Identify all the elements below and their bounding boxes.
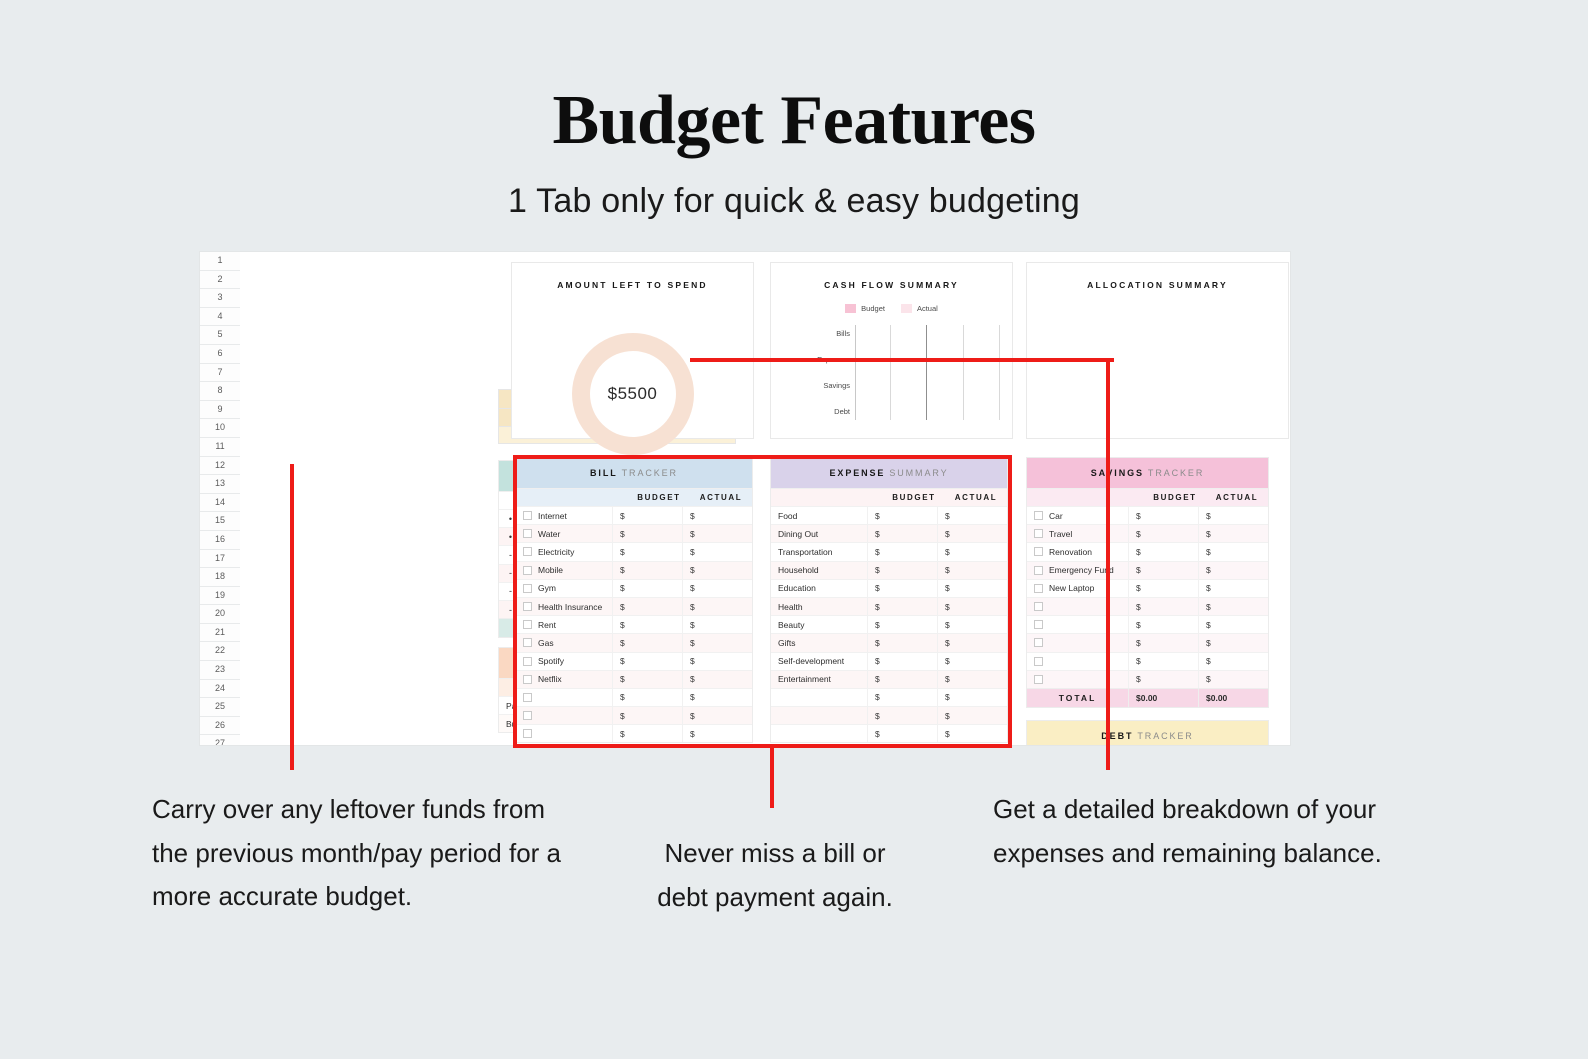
budget-cell[interactable]: $ — [1128, 616, 1198, 633]
table-row[interactable]: Dining Out$$ — [771, 524, 1007, 542]
actual-cell[interactable]: $ — [682, 616, 752, 633]
actual-cell[interactable]: $ — [1198, 671, 1268, 688]
actual-cell[interactable]: $ — [682, 580, 752, 597]
row-number[interactable]: 13 — [200, 475, 240, 494]
row-label-cell[interactable]: Health — [771, 598, 867, 615]
checkbox-icon[interactable] — [523, 529, 532, 538]
row-label-cell[interactable] — [516, 707, 612, 724]
row-label: Car — [1049, 511, 1063, 521]
row-label-cell[interactable]: Gas — [516, 634, 612, 651]
expense-summary-table[interactable]: EXPENSE SUMMARY BUDGET ACTUAL Food$$Dini… — [770, 457, 1008, 743]
savings-tracker-table[interactable]: SAVINGS TRACKER BUDGET ACTUAL Car$$Trave… — [1026, 457, 1269, 708]
currency-symbol: $ — [875, 729, 880, 739]
budget-cell[interactable]: $ — [867, 543, 937, 560]
budget-cell[interactable]: $ — [612, 671, 682, 688]
checkbox-icon[interactable] — [523, 602, 532, 611]
row-label-cell[interactable]: Travel — [1027, 525, 1128, 542]
row-number[interactable]: 8 — [200, 382, 240, 401]
budget-cell[interactable]: $ — [867, 689, 937, 706]
savings-title-bold: SAVINGS — [1091, 468, 1144, 478]
savings-col-budget: BUDGET — [1144, 489, 1206, 506]
row-number[interactable]: 3 — [200, 289, 240, 308]
table-row[interactable]: Transportation$$ — [771, 542, 1007, 560]
budget-cell[interactable]: $ — [612, 653, 682, 670]
actual-cell[interactable]: $ — [682, 634, 752, 651]
currency-symbol: $ — [945, 583, 950, 593]
actual-cell[interactable]: $ — [937, 689, 1007, 706]
row-label-cell[interactable] — [771, 725, 867, 742]
checkbox-icon[interactable] — [1034, 547, 1043, 556]
row-number[interactable]: 16 — [200, 531, 240, 550]
row-number[interactable]: 19 — [200, 587, 240, 606]
checkbox-icon[interactable] — [523, 675, 532, 684]
row-label: Dining Out — [778, 529, 818, 539]
annotation-line-horizontal — [690, 358, 1114, 362]
row-number[interactable]: 10 — [200, 419, 240, 438]
row-label: Food — [778, 511, 797, 521]
actual-cell[interactable]: $ — [1198, 616, 1268, 633]
row-label-cell[interactable]: Household — [771, 562, 867, 579]
table-row[interactable]: Health$$ — [771, 597, 1007, 615]
row-label-cell[interactable] — [516, 725, 612, 742]
table-row[interactable]: $$ — [771, 724, 1007, 742]
currency-symbol: $ — [945, 602, 950, 612]
currency-symbol: $ — [620, 620, 625, 630]
row-label: Internet — [538, 511, 567, 521]
row-number[interactable]: 14 — [200, 494, 240, 513]
table-row[interactable]: $$ — [516, 706, 752, 724]
bill-tracker-header: BILL TRACKER — [516, 458, 752, 488]
row-number[interactable]: 23 — [200, 661, 240, 680]
budget-cell[interactable]: $ — [867, 707, 937, 724]
currency-symbol: $ — [620, 692, 625, 702]
currency-symbol: $ — [945, 711, 950, 721]
row-number[interactable]: 22 — [200, 642, 240, 661]
row-number[interactable]: 1 — [200, 252, 240, 271]
spreadsheet-canvas[interactable]: 1234567891011121314151617181920212223242… — [200, 252, 1290, 745]
budget-cell[interactable]: $ — [612, 525, 682, 542]
spreadsheet-grid[interactable]: AUGUST · BUDGET DASHBOARD · START DATE 1… — [240, 252, 1290, 745]
annotation-box-bottom — [513, 744, 1012, 748]
currency-symbol: $ — [1206, 638, 1211, 648]
row-label-cell[interactable]: Netflix — [516, 671, 612, 688]
table-row[interactable]: Internet$$ — [516, 506, 752, 524]
table-row[interactable]: Electricity$$ — [516, 542, 752, 560]
budget-cell[interactable]: $ — [612, 689, 682, 706]
table-row[interactable]: Emergency Fund$$ — [1027, 561, 1268, 579]
row-label: Rent — [538, 620, 556, 630]
row-number[interactable]: 9 — [200, 401, 240, 420]
currency-symbol: $ — [875, 656, 880, 666]
actual-cell[interactable]: $ — [937, 707, 1007, 724]
currency-symbol: $ — [690, 692, 695, 702]
actual-cell[interactable]: $ — [937, 634, 1007, 651]
currency-symbol: $ — [620, 674, 625, 684]
checkbox-icon[interactable] — [523, 729, 532, 738]
checkbox-icon[interactable] — [1034, 657, 1043, 666]
currency-symbol: $ — [875, 638, 880, 648]
row-label: Health — [778, 602, 803, 612]
actual-cell[interactable]: $ — [937, 562, 1007, 579]
currency-symbol: $ — [620, 511, 625, 521]
table-row[interactable]: Travel$$ — [1027, 524, 1268, 542]
budget-cell[interactable]: $ — [1128, 507, 1198, 524]
cashflow-chart-title: CASH FLOW SUMMARY — [771, 280, 1012, 290]
table-row[interactable]: $$ — [771, 688, 1007, 706]
table-row[interactable]: Food$$ — [771, 506, 1007, 524]
table-row[interactable]: Education$$ — [771, 579, 1007, 597]
budget-cell[interactable]: $ — [867, 525, 937, 542]
gridline — [999, 325, 1000, 420]
amount-left-title: AMOUNT LEFT TO SPEND — [512, 280, 753, 290]
savings-total-label: TOTAL — [1027, 689, 1128, 707]
amount-left-donut: $5500 — [572, 333, 694, 455]
actual-cell[interactable]: $ — [937, 725, 1007, 742]
currency-symbol: $ — [620, 547, 625, 557]
table-row[interactable]: Spotify$$ — [516, 652, 752, 670]
expense-column-headers: BUDGET ACTUAL — [771, 488, 1007, 506]
row-label: New Laptop — [1049, 583, 1094, 593]
currency-symbol: $ — [690, 529, 695, 539]
budget-cell[interactable]: $ — [867, 580, 937, 597]
savings-column-headers: BUDGET ACTUAL — [1027, 488, 1268, 506]
row-number[interactable]: 17 — [200, 550, 240, 569]
row-label-cell[interactable]: Spotify — [516, 653, 612, 670]
actual-cell[interactable]: $ — [682, 689, 752, 706]
budget-cell[interactable]: $ — [1128, 634, 1198, 651]
savings-tracker-header: SAVINGS TRACKER — [1027, 458, 1268, 488]
row-label-cell[interactable]: Rent — [516, 616, 612, 633]
row-label-cell[interactable]: Water — [516, 525, 612, 542]
row-label-cell[interactable] — [1027, 598, 1128, 615]
budget-cell[interactable]: $ — [867, 725, 937, 742]
row-label-cell[interactable]: Entertainment — [771, 671, 867, 688]
budget-cell[interactable]: $ — [612, 725, 682, 742]
checkbox-icon[interactable] — [523, 711, 532, 720]
savings-total-actual: $0.00 — [1198, 689, 1268, 707]
actual-cell[interactable]: $ — [1198, 598, 1268, 615]
actual-cell[interactable]: $ — [1198, 580, 1268, 597]
actual-cell[interactable]: $ — [937, 543, 1007, 560]
budget-cell[interactable]: $ — [1128, 543, 1198, 560]
row-label-cell[interactable]: Internet — [516, 507, 612, 524]
actual-cell[interactable]: $ — [682, 507, 752, 524]
currency-symbol: $ — [690, 565, 695, 575]
budget-cell[interactable]: $ — [867, 653, 937, 670]
table-row[interactable]: Gifts$$ — [771, 633, 1007, 651]
budget-cell[interactable]: $ — [867, 671, 937, 688]
row-label-cell[interactable]: New Laptop — [1027, 580, 1128, 597]
currency-symbol: $ — [1136, 656, 1141, 666]
table-row[interactable]: Mobile$$ — [516, 561, 752, 579]
table-row[interactable]: $$ — [1027, 652, 1268, 670]
checkbox-icon[interactable] — [523, 657, 532, 666]
row-label: Renovation — [1049, 547, 1092, 557]
checkbox-icon[interactable] — [523, 511, 532, 520]
table-row[interactable]: $$ — [1027, 615, 1268, 633]
legend-item-actual: Actual — [901, 304, 938, 313]
actual-cell[interactable]: $ — [1198, 525, 1268, 542]
row-label-cell[interactable]: Mobile — [516, 562, 612, 579]
bill-col-budget: BUDGET — [628, 489, 690, 506]
row-number[interactable]: 11 — [200, 438, 240, 457]
checkbox-icon[interactable] — [1034, 511, 1043, 520]
row-label: Education — [778, 583, 816, 593]
currency-symbol: $ — [620, 656, 625, 666]
table-row[interactable]: Beauty$$ — [771, 615, 1007, 633]
caption-left: Carry over any leftover funds from the p… — [152, 788, 572, 919]
checkbox-icon[interactable] — [523, 620, 532, 629]
checkbox-icon[interactable] — [523, 547, 532, 556]
currency-symbol: $ — [945, 529, 950, 539]
budget-cell[interactable]: $ — [867, 507, 937, 524]
budget-cell[interactable]: $ — [612, 598, 682, 615]
table-row[interactable]: $$ — [516, 688, 752, 706]
budget-cell[interactable]: $ — [1128, 525, 1198, 542]
checkbox-icon[interactable] — [523, 638, 532, 647]
currency-symbol: $ — [1136, 529, 1141, 539]
annotation-box-top — [513, 455, 1012, 459]
table-row[interactable]: $$ — [516, 724, 752, 742]
row-number[interactable]: 20 — [200, 605, 240, 624]
currency-symbol: $ — [620, 529, 625, 539]
actual-cell[interactable]: $ — [682, 725, 752, 742]
actual-cell[interactable]: $ — [1198, 634, 1268, 651]
bill-col-blank — [516, 489, 628, 506]
row-label: Mobile — [538, 565, 563, 575]
gridline — [926, 325, 927, 420]
chart-category-label: Debt — [819, 398, 855, 424]
table-row[interactable]: Health Insurance$$ — [516, 597, 752, 615]
checkbox-icon[interactable] — [1034, 529, 1043, 538]
row-label-cell[interactable] — [1027, 671, 1128, 688]
checkbox-icon[interactable] — [1034, 566, 1043, 575]
row-label-cell[interactable] — [1027, 616, 1128, 633]
currency-symbol: $ — [945, 547, 950, 557]
row-label-cell[interactable]: Food — [771, 507, 867, 524]
row-number[interactable]: 25 — [200, 698, 240, 717]
actual-cell[interactable]: $ — [937, 507, 1007, 524]
actual-cell[interactable]: $ — [937, 671, 1007, 688]
row-label-cell[interactable]: Electricity — [516, 543, 612, 560]
budget-cell[interactable]: $ — [612, 562, 682, 579]
checkbox-icon[interactable] — [523, 584, 532, 593]
row-label-cell[interactable]: Emergency Fund — [1027, 562, 1128, 579]
table-row[interactable]: Rent$$ — [516, 615, 752, 633]
actual-cell[interactable]: $ — [1198, 562, 1268, 579]
currency-symbol: $ — [1206, 602, 1211, 612]
row-label: Health Insurance — [538, 602, 602, 612]
row-label-cell[interactable] — [771, 689, 867, 706]
cashflow-bar-chart: BillsExpensesSavingsDebt — [819, 321, 1002, 424]
currency-symbol: $ — [1206, 511, 1211, 521]
row-label-cell[interactable] — [1027, 653, 1128, 670]
row-label-cell[interactable]: Gifts — [771, 634, 867, 651]
row-label: Travel — [1049, 529, 1072, 539]
legend-swatch-actual — [901, 304, 912, 313]
checkbox-icon[interactable] — [1034, 602, 1043, 611]
annotation-line-middle — [770, 744, 774, 808]
table-row[interactable]: $$ — [1027, 597, 1268, 615]
currency-symbol: $ — [620, 711, 625, 721]
currency-symbol: $ — [690, 583, 695, 593]
chart-category-label: Savings — [819, 373, 855, 399]
currency-symbol: $ — [945, 729, 950, 739]
row-label-cell[interactable]: Health Insurance — [516, 598, 612, 615]
budget-cell[interactable]: $ — [1128, 653, 1198, 670]
actual-cell[interactable]: $ — [937, 580, 1007, 597]
actual-cell[interactable]: $ — [682, 543, 752, 560]
currency-symbol: $ — [875, 529, 880, 539]
currency-symbol: $ — [945, 692, 950, 702]
row-label: Gas — [538, 638, 554, 648]
row-label-cell[interactable] — [771, 707, 867, 724]
row-label-cell[interactable]: Car — [1027, 507, 1128, 524]
table-row[interactable]: Gym$$ — [516, 579, 752, 597]
actual-cell[interactable]: $ — [682, 653, 752, 670]
currency-symbol: $ — [690, 729, 695, 739]
table-row[interactable]: New Laptop$$ — [1027, 579, 1268, 597]
checkbox-icon[interactable] — [1034, 675, 1043, 684]
budget-cell[interactable]: $ — [867, 616, 937, 633]
row-label-cell[interactable] — [1027, 634, 1128, 651]
row-number[interactable]: 26 — [200, 717, 240, 736]
actual-cell[interactable]: $ — [1198, 543, 1268, 560]
row-label: Transportation — [778, 547, 833, 557]
budget-cell[interactable]: $ — [612, 616, 682, 633]
checkbox-icon[interactable] — [523, 566, 532, 575]
row-label-cell[interactable]: Beauty — [771, 616, 867, 633]
annotation-line-left — [290, 464, 294, 770]
budget-cell[interactable]: $ — [1128, 671, 1198, 688]
checkbox-icon[interactable] — [1034, 620, 1043, 629]
table-row[interactable]: Renovation$$ — [1027, 542, 1268, 560]
actual-cell[interactable]: $ — [682, 671, 752, 688]
row-number[interactable]: 6 — [200, 345, 240, 364]
actual-cell[interactable]: $ — [682, 598, 752, 615]
currency-symbol: $ — [875, 711, 880, 721]
checkbox-icon[interactable] — [1034, 638, 1043, 647]
row-label-cell[interactable]: Dining Out — [771, 525, 867, 542]
row-label-cell[interactable]: Education — [771, 580, 867, 597]
currency-symbol: $ — [690, 620, 695, 630]
row-number[interactable]: 5 — [200, 326, 240, 345]
row-label-cell[interactable]: Renovation — [1027, 543, 1128, 560]
row-label-cell[interactable] — [516, 689, 612, 706]
bill-tracker-table[interactable]: BILL TRACKER BUDGET ACTUAL Internet$$Wat… — [515, 457, 753, 743]
currency-symbol: $ — [1136, 565, 1141, 575]
currency-symbol: $ — [945, 656, 950, 666]
currency-symbol: $ — [690, 511, 695, 521]
page-title: Budget Features — [0, 86, 1588, 156]
currency-symbol: $ — [690, 638, 695, 648]
actual-cell[interactable]: $ — [1198, 653, 1268, 670]
budget-cell[interactable]: $ — [612, 580, 682, 597]
actual-cell[interactable]: $ — [682, 525, 752, 542]
checkbox-icon[interactable] — [523, 693, 532, 702]
row-label-cell[interactable]: Transportation — [771, 543, 867, 560]
row-number[interactable]: 12 — [200, 457, 240, 476]
amount-left-card: AMOUNT LEFT TO SPEND $5500 — [511, 262, 754, 439]
savings-total-budget: $0.00 — [1128, 689, 1198, 707]
expense-col-actual: ACTUAL — [945, 489, 1007, 506]
table-row[interactable]: Netflix$$ — [516, 670, 752, 688]
gridline — [890, 325, 891, 420]
table-row[interactable]: Entertainment$$ — [771, 670, 1007, 688]
legend-label-budget: Budget — [861, 304, 885, 313]
budget-cell[interactable]: $ — [612, 507, 682, 524]
actual-cell[interactable]: $ — [682, 707, 752, 724]
row-label-cell[interactable]: Gym — [516, 580, 612, 597]
row-label: Gifts — [778, 638, 795, 648]
currency-symbol: $ — [620, 602, 625, 612]
row-label: Netflix — [538, 674, 562, 684]
table-row[interactable]: Car$$ — [1027, 506, 1268, 524]
row-number[interactable]: 15 — [200, 512, 240, 531]
row-number[interactable]: 27 — [200, 735, 240, 745]
actual-cell[interactable]: $ — [937, 525, 1007, 542]
currency-symbol: $ — [945, 620, 950, 630]
budget-cell[interactable]: $ — [867, 562, 937, 579]
budget-cell[interactable]: $ — [612, 707, 682, 724]
actual-cell[interactable]: $ — [682, 562, 752, 579]
currency-symbol: $ — [945, 674, 950, 684]
table-row[interactable]: Gas$$ — [516, 633, 752, 651]
actual-cell[interactable]: $ — [1198, 507, 1268, 524]
chart-category-label: Bills — [819, 321, 855, 347]
row-label-cell[interactable]: Self-development — [771, 653, 867, 670]
budget-cell[interactable]: $ — [612, 543, 682, 560]
table-row[interactable]: $$ — [771, 706, 1007, 724]
chart-legend: Budget Actual — [771, 304, 1012, 313]
budget-cell[interactable]: $ — [867, 634, 937, 651]
row-number[interactable]: 4 — [200, 308, 240, 327]
row-number[interactable]: 7 — [200, 364, 240, 383]
table-row[interactable]: Household$$ — [771, 561, 1007, 579]
actual-cell[interactable]: $ — [937, 598, 1007, 615]
row-number[interactable]: 21 — [200, 624, 240, 643]
annotation-box-right — [1008, 455, 1012, 748]
currency-symbol: $ — [1136, 602, 1141, 612]
budget-cell[interactable]: $ — [1128, 562, 1198, 579]
currency-symbol: $ — [875, 547, 880, 557]
actual-cell[interactable]: $ — [937, 616, 1007, 633]
budget-cell[interactable]: $ — [612, 634, 682, 651]
currency-symbol: $ — [875, 674, 880, 684]
currency-symbol: $ — [690, 656, 695, 666]
row-label: Self-development — [778, 656, 844, 666]
row-number[interactable]: 24 — [200, 680, 240, 699]
expense-col-blank — [771, 489, 883, 506]
row-label: Emergency Fund — [1049, 565, 1114, 575]
table-row[interactable]: $$ — [1027, 633, 1268, 651]
table-row[interactable]: $$ — [1027, 670, 1268, 688]
currency-symbol: $ — [1136, 620, 1141, 630]
page-subtitle: 1 Tab only for quick & easy budgeting — [0, 182, 1588, 221]
row-number[interactable]: 2 — [200, 271, 240, 290]
table-row[interactable]: Self-development$$ — [771, 652, 1007, 670]
table-row[interactable]: Water$$ — [516, 524, 752, 542]
budget-cell[interactable]: $ — [1128, 598, 1198, 615]
currency-symbol: $ — [875, 583, 880, 593]
budget-cell[interactable]: $ — [1128, 580, 1198, 597]
debt-tracker-table[interactable]: DEBT TRACKER — [1026, 720, 1269, 745]
checkbox-icon[interactable] — [1034, 584, 1043, 593]
budget-cell[interactable]: $ — [867, 598, 937, 615]
row-number[interactable]: 18 — [200, 568, 240, 587]
actual-cell[interactable]: $ — [937, 653, 1007, 670]
row-label: Beauty — [778, 620, 804, 630]
